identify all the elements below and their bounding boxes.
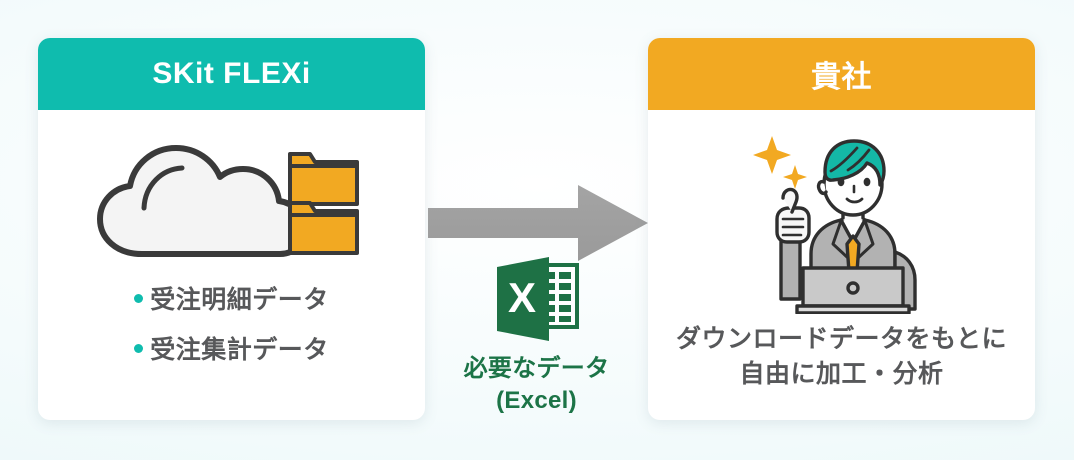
businessman-laptop-thumbsup-icon — [737, 124, 947, 314]
folder-icon-top — [290, 154, 357, 204]
right-caption-line1: ダウンロードデータをもとに — [676, 322, 1007, 357]
left-card-item-list: 受注明細データ 受注集計データ — [134, 280, 329, 366]
sparkle-icon-large — [753, 136, 791, 174]
right-card-title: 貴社 — [811, 52, 872, 96]
center-transfer-column: X 必要なデータ (Excel) — [425, 0, 648, 460]
list-item: 受注明細データ — [134, 280, 329, 316]
right-caption-line2: 自由に加工・分析 — [676, 357, 1007, 392]
list-item-label: 受注明細データ — [150, 280, 329, 316]
excel-x-glyph: X — [507, 274, 535, 321]
right-card-caption: ダウンロードデータをもとに 自由に加工・分析 — [676, 322, 1007, 391]
excel-label-line2: (Excel) — [464, 385, 610, 417]
excel-file-icon: X — [491, 255, 583, 343]
left-card-title: SKit FLEXi — [152, 57, 310, 91]
excel-label-line1: 必要なデータ — [464, 353, 610, 385]
left-card-header: SKit FLEXi — [38, 38, 425, 110]
left-card-body: 受注明細データ 受注集計データ — [38, 110, 425, 420]
right-card-body: ダウンロードデータをもとに 自由に加工・分析 — [648, 110, 1035, 420]
right-arrow-icon — [428, 185, 648, 261]
bullet-dot-icon — [134, 344, 143, 353]
list-item: 受注集計データ — [134, 330, 329, 366]
diagram-canvas: SKit FLEXi — [0, 0, 1074, 460]
list-item-label: 受注集計データ — [150, 330, 329, 366]
right-card-header: 貴社 — [648, 38, 1035, 110]
excel-label: 必要なデータ (Excel) — [464, 353, 610, 417]
folder-icon-bottom — [290, 203, 357, 253]
excel-data-block: X 必要なデータ (Excel) — [425, 255, 648, 417]
sparkle-icon-small — [783, 165, 807, 189]
cloud-folders-icon — [82, 136, 382, 266]
left-card-skit-flexi: SKit FLEXi — [38, 38, 425, 420]
bullet-dot-icon — [134, 294, 143, 303]
right-card-your-company: 貴社 — [648, 38, 1035, 420]
